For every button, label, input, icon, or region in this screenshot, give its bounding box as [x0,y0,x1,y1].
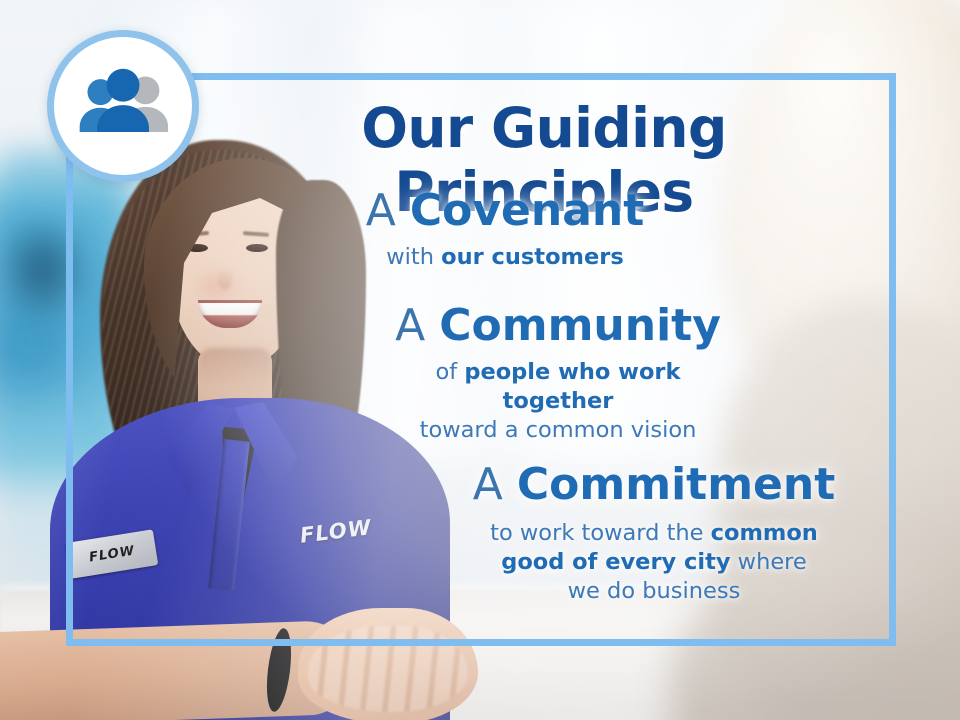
principle-subtext: with our customers [330,243,680,272]
principle-article: A [473,459,503,510]
subtext-run-bold: people who work together [464,359,680,414]
principle-keyword: Commitment [517,459,835,510]
subtext-run-bold: our customers [441,244,624,270]
subtext-line: toward a common vision [378,416,738,445]
guiding-principles-poster: FLOW FLOW Our Guiding Principles [0,0,960,720]
principle-commitment: A Commitment to work toward the common g… [430,462,878,607]
principle-subtext: to work toward the common good of every … [430,519,878,607]
subtext-run: we do business [568,578,741,604]
principle-community: A Community of people who work together … [378,303,738,446]
subtext-run: toward a common vision [420,417,697,443]
principle-article: A [395,300,425,351]
principle-article: A [366,185,396,236]
principle-keyword: Community [439,300,721,351]
subtext-run: to work toward the [490,520,711,546]
principle-heading: A Covenant [330,188,680,234]
principle-covenant: A Covenant with our customers [330,188,680,272]
principle-subtext: of people who work together toward a com… [378,358,738,446]
subtext-line: with our customers [330,243,680,272]
subtext-run-bold: good of every city [501,549,730,575]
subtext-line: of people who work together [378,358,738,417]
subtext-run-bold: common [711,520,818,546]
principle-heading: A Commitment [430,462,878,508]
subtext-run: with [386,244,441,270]
subtext-line: good of every city where [430,548,878,577]
poster-copy: Our Guiding Principles A Covenant with o… [0,0,960,720]
subtext-run: where [731,549,807,575]
subtext-line: we do business [430,577,878,606]
principle-keyword: Covenant [410,185,644,236]
principle-heading: A Community [378,303,738,349]
subtext-line: to work toward the common [430,519,878,548]
subtext-run: of [436,359,465,385]
